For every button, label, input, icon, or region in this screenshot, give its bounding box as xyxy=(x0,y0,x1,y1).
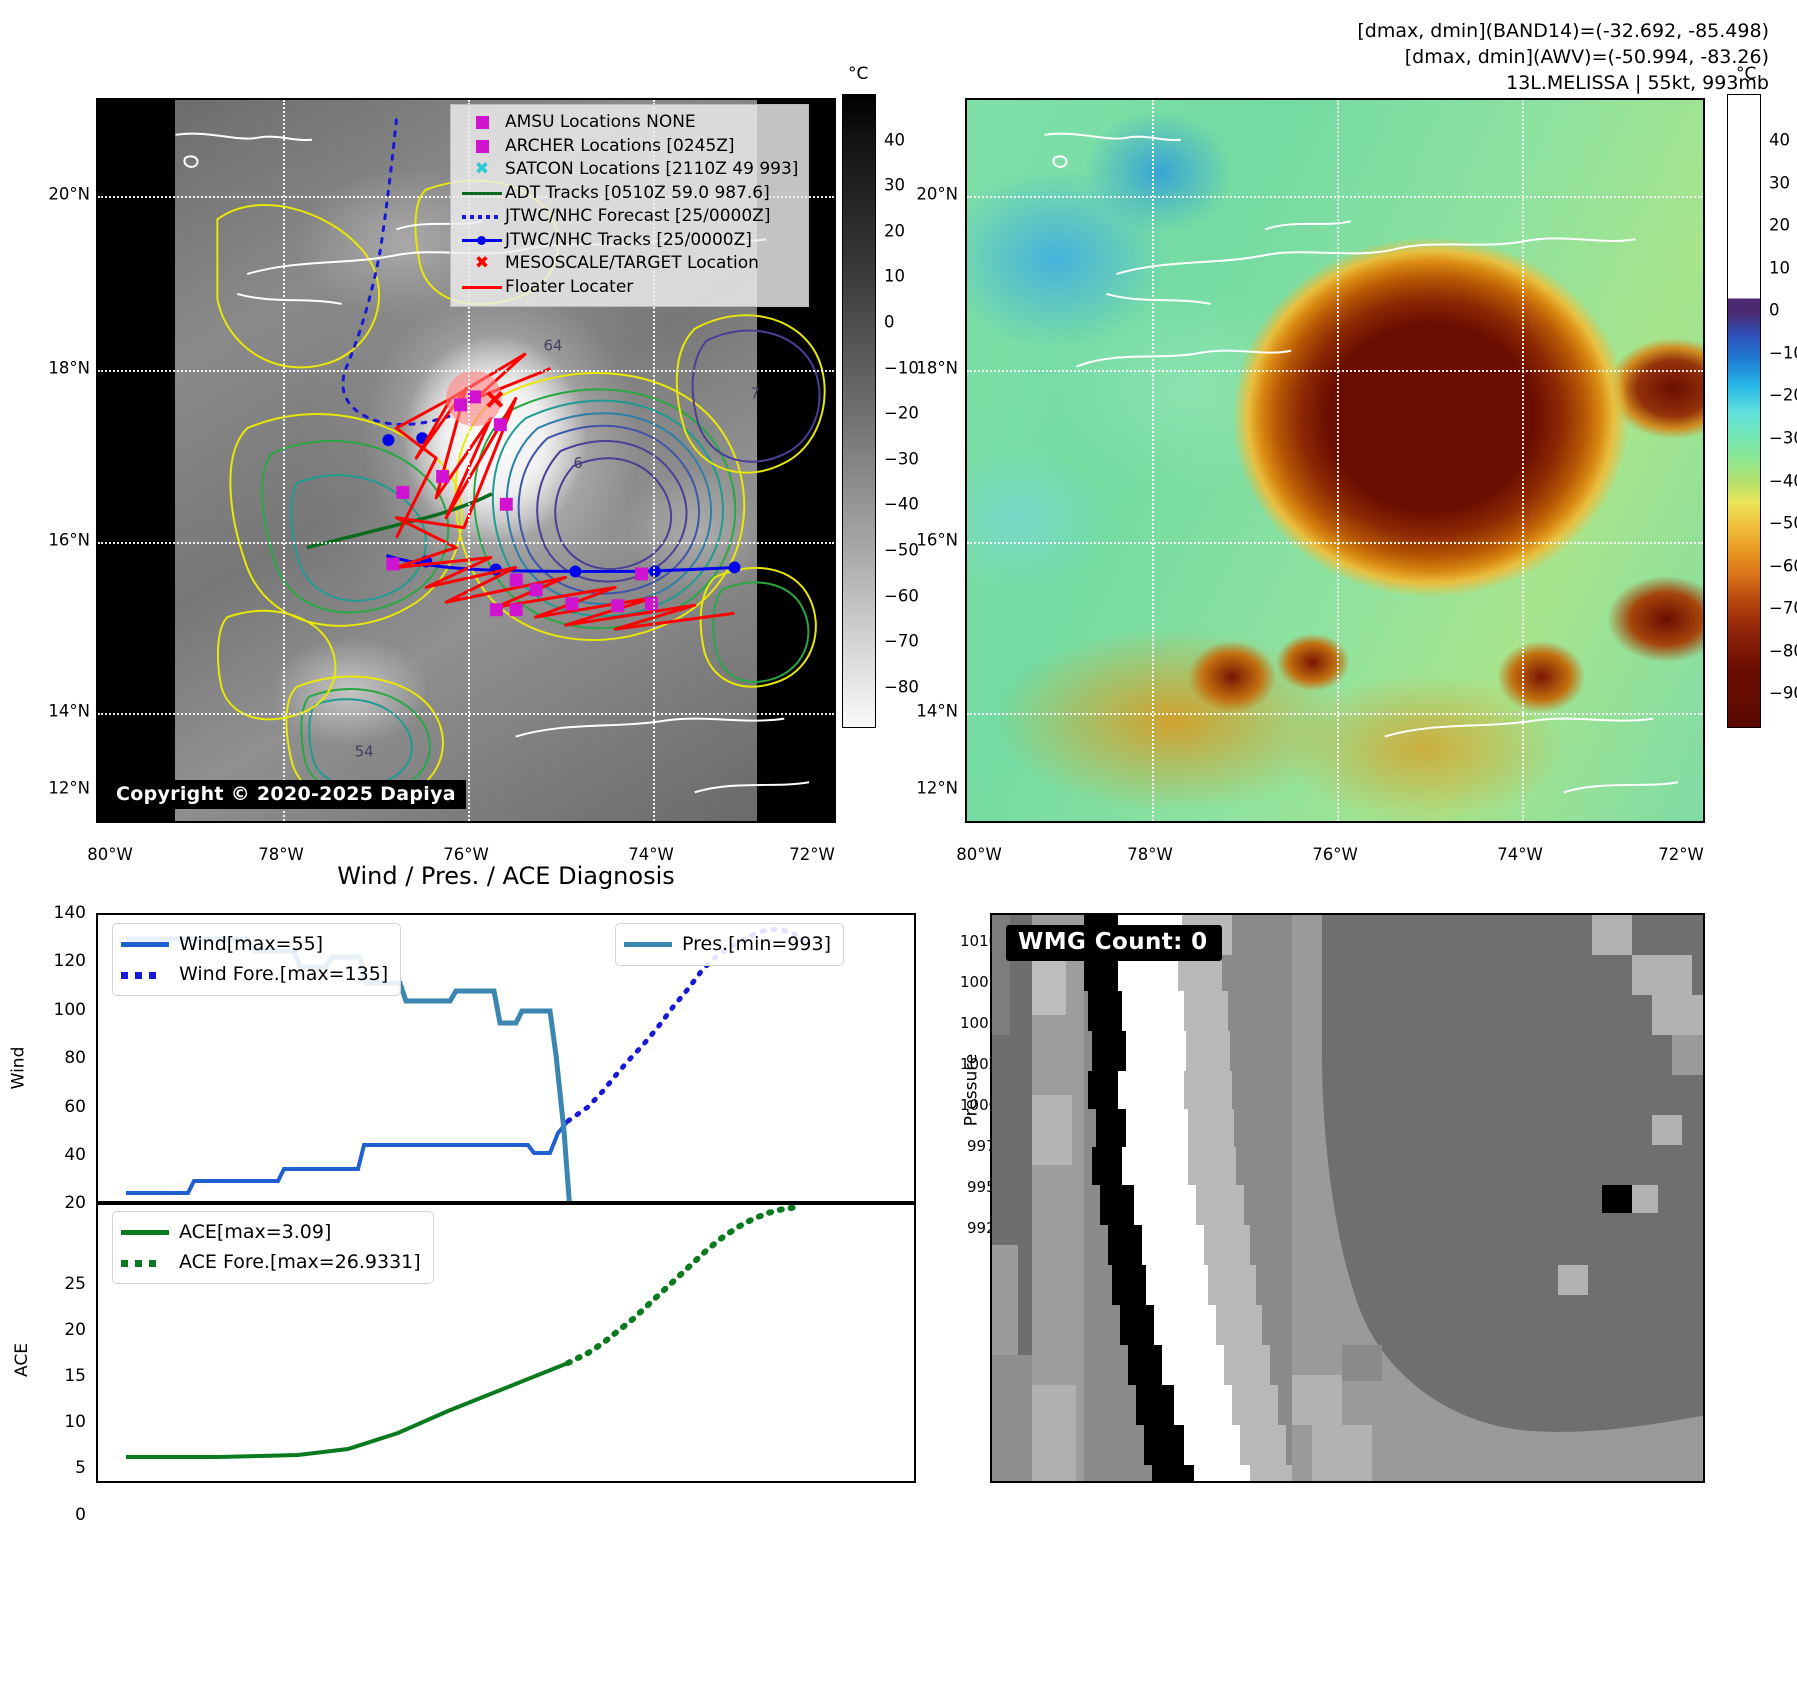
contour-label-7: 7 xyxy=(750,384,759,402)
legend-item-amsu: AMSU Locations NONE xyxy=(459,111,798,135)
legend-label: Floater Locater xyxy=(505,276,633,300)
wind-ytick-60: 60 xyxy=(34,1097,86,1117)
ir-cb-tick: −30 xyxy=(884,450,919,469)
ace-legend: ACE[max=3.09] ACE Fore.[max=26.9331] xyxy=(112,1211,434,1284)
ir-cb-tick: 0 xyxy=(884,313,895,332)
wind-legend: Wind[max=55] Wind Fore.[max=135] xyxy=(112,923,401,996)
dotted-line-icon xyxy=(459,215,505,219)
contour-label-64: 64 xyxy=(544,337,563,355)
square-marker-icon xyxy=(459,140,505,153)
solid-line-icon xyxy=(459,192,505,195)
ir-cb-tick: 20 xyxy=(884,222,905,241)
ir-cb-tick: 30 xyxy=(884,176,905,195)
ace-ytick-10: 10 xyxy=(40,1412,86,1432)
ace-ytick-15: 15 xyxy=(40,1366,86,1386)
wv-cb-tick: −20 xyxy=(1769,386,1797,405)
wmg-count-badge: WMG Count: 0 xyxy=(1006,925,1222,961)
wv-lat-tick-12N: 12°N xyxy=(908,779,958,798)
wv-gridline-lon-74 xyxy=(1522,100,1524,821)
square-marker-icon xyxy=(459,116,505,129)
ir-lon-tick: 72°W xyxy=(789,845,835,864)
ir-colorbar xyxy=(842,94,876,728)
legend-item-ace: ACE[max=3.09] xyxy=(121,1217,421,1247)
wv-cb-tick: −90 xyxy=(1769,684,1797,703)
wind-ytick-120: 120 xyxy=(34,951,86,971)
wv-lat-tick: 18°N xyxy=(908,359,958,378)
wv-cb-tick: −30 xyxy=(1769,429,1797,448)
wv-cb-tick: −80 xyxy=(1769,642,1797,661)
wv-satellite-map[interactable] xyxy=(965,98,1705,823)
ir-cb-tick: 40 xyxy=(884,131,905,150)
contour-label-54: 54 xyxy=(355,742,374,760)
wind-ytick-80: 80 xyxy=(34,1048,86,1068)
ace-ytick-5: 5 xyxy=(40,1458,86,1478)
legend-item-satcon: ✖ SATCON Locations [2110Z 49 993] xyxy=(459,158,798,182)
ace-ytick-20: 20 xyxy=(40,1320,86,1340)
legend-label: ACE[max=3.09] xyxy=(179,1217,331,1247)
wv-cb-tick: −60 xyxy=(1769,557,1797,576)
storm-summary: 13L.MELISSA | 55kt, 993mb xyxy=(1357,70,1769,96)
line-with-dot-icon xyxy=(459,236,505,245)
wv-lon-tick: 76°W xyxy=(1312,845,1358,864)
wv-gridline-lat-16 xyxy=(967,542,1703,544)
wv-cb-tick: −50 xyxy=(1769,514,1797,533)
ir-cb-tick: −60 xyxy=(884,587,919,606)
legend-item-pressure: Pres.[min=993] xyxy=(624,929,831,959)
wv-gridline-lat-18 xyxy=(967,370,1703,372)
legend-item-wind-forecast: Wind Fore.[max=135] xyxy=(121,959,388,989)
legend-label: JTWC/NHC Tracks [25/0000Z] xyxy=(505,229,752,253)
ir-cb-tick: −20 xyxy=(884,404,919,423)
wv-lat-tick: 20°N xyxy=(908,185,958,204)
ir-gridline-lat-16 xyxy=(98,542,834,544)
x-marker-icon: ✖ xyxy=(459,161,505,178)
ir-cb-tick: −70 xyxy=(884,632,919,651)
dmax-dmin-band14: [dmax, dmin](BAND14)=(-32.692, -85.498) xyxy=(1357,18,1769,44)
ir-lon-tick: 78°W xyxy=(258,845,304,864)
wv-gridline-lat-14 xyxy=(967,713,1703,715)
wv-lat-tick: 14°N xyxy=(908,702,958,721)
wv-lat-tick: 16°N xyxy=(908,531,958,550)
wmg-panel[interactable]: WMG Count: 0 xyxy=(990,913,1705,1483)
legend-label: ACE Fore.[max=26.9331] xyxy=(179,1247,421,1277)
legend-label: ARCHER Locations [0245Z] xyxy=(505,135,735,159)
contour-label-6: 6 xyxy=(573,454,582,472)
wv-cb-tick: −40 xyxy=(1769,472,1797,491)
dotted-line-icon xyxy=(121,1260,179,1264)
legend-item-mesoscale-target: ✖ MESOSCALE/TARGET Location xyxy=(459,252,798,276)
wv-lon-tick: 78°W xyxy=(1127,845,1173,864)
ir-lat-tick: 14°N xyxy=(40,702,90,721)
ir-colorbar-unit: °C xyxy=(848,64,868,84)
legend-label: AMSU Locations NONE xyxy=(505,111,696,135)
ir-lon-tick: 80°W xyxy=(87,845,133,864)
ir-cb-tick: −40 xyxy=(884,495,919,514)
ace-ytick-25: 25 xyxy=(40,1274,86,1294)
ir-lat-tick: 16°N xyxy=(40,531,90,550)
ir-satellite-map[interactable]: 64 6 7 54 xyxy=(96,98,836,823)
wv-colorbar xyxy=(1727,94,1761,728)
wv-lon-tick: 80°W xyxy=(956,845,1002,864)
wv-lon-tick: 72°W xyxy=(1658,845,1704,864)
header-info: [dmax, dmin](BAND14)=(-32.692, -85.498) … xyxy=(1357,18,1769,96)
wv-cb-tick: 0 xyxy=(1769,301,1780,320)
ir-cb-tick: −80 xyxy=(884,678,919,697)
legend-label: Pres.[min=993] xyxy=(682,929,831,959)
legend-label: SATCON Locations [2110Z 49 993] xyxy=(505,158,798,182)
legend-item-wind: Wind[max=55] xyxy=(121,929,388,959)
legend-item-ace-forecast: ACE Fore.[max=26.9331] xyxy=(121,1247,421,1277)
wind-pressure-chart[interactable]: Wind[max=55] Wind Fore.[max=135] Pres.[m… xyxy=(96,913,916,1203)
wind-ytick-140: 140 xyxy=(34,903,86,923)
wv-gridline-lon-78 xyxy=(1152,100,1154,821)
ace-axis-label: ACE xyxy=(12,1343,32,1377)
ir-lat-tick: 18°N xyxy=(40,359,90,378)
wv-cb-tick: 20 xyxy=(1769,216,1790,235)
wmg-raster xyxy=(992,915,1705,1483)
diagnosis-chart-title: Wind / Pres. / ACE Diagnosis xyxy=(337,862,675,890)
wv-cb-tick: −10 xyxy=(1769,344,1797,363)
ir-gridline-lat-14 xyxy=(98,713,834,715)
legend-label: ADT Tracks [0510Z 59.0 987.6] xyxy=(505,182,770,206)
wv-cb-tick: 10 xyxy=(1769,259,1790,278)
wv-cb-tick: −70 xyxy=(1769,599,1797,618)
wv-cb-tick: 30 xyxy=(1769,174,1790,193)
solid-line-icon xyxy=(121,942,179,947)
wv-lon-tick: 74°W xyxy=(1497,845,1543,864)
wv-gridline-lon-76 xyxy=(1337,100,1339,821)
wind-axis-label: Wind xyxy=(8,1047,28,1090)
legend-item-archer: ARCHER Locations [0245Z] xyxy=(459,135,798,159)
solid-line-icon xyxy=(624,942,682,947)
ace-ytick-0: 0 xyxy=(40,1505,86,1525)
legend-item-floater-locater: Floater Locater xyxy=(459,276,798,300)
ace-chart[interactable]: ACE[max=3.09] ACE Fore.[max=26.9331] xyxy=(96,1203,916,1483)
legend-label: MESOSCALE/TARGET Location xyxy=(505,252,759,276)
dmax-dmin-awv: [dmax, dmin](AWV)=(-50.994, -83.26) xyxy=(1357,44,1769,70)
x-marker-icon: ✖ xyxy=(459,255,505,272)
solid-line-icon xyxy=(459,286,505,289)
legend-label: JTWC/NHC Forecast [25/0000Z] xyxy=(505,205,770,229)
legend-label: Wind[max=55] xyxy=(179,929,323,959)
wind-ytick-40: 40 xyxy=(34,1145,86,1165)
ir-map-legend: AMSU Locations NONE ARCHER Locations [02… xyxy=(450,104,809,307)
ir-gridline-lon-78 xyxy=(283,100,285,821)
dashboard-root: GOES-19 BAND14-DIAS MESOSCALE Time: 2025… xyxy=(0,0,1797,1690)
wv-colorbar-unit: °C xyxy=(1736,64,1756,84)
legend-item-jtwc-forecast: JTWC/NHC Forecast [25/0000Z] xyxy=(459,205,798,229)
copyright-notice: Copyright © 2020-2025 Dapiya xyxy=(108,780,466,809)
wind-ytick-20: 20 xyxy=(34,1193,86,1213)
legend-item-adt-tracks: ADT Tracks [0510Z 59.0 987.6] xyxy=(459,182,798,206)
ir-lat-tick: 20°N xyxy=(40,185,90,204)
legend-item-jtwc-tracks: JTWC/NHC Tracks [25/0000Z] xyxy=(459,229,798,253)
dotted-line-icon xyxy=(121,972,179,976)
wv-gridline-lat-20 xyxy=(967,196,1703,198)
ir-lat-tick-12N: 12°N xyxy=(40,779,90,798)
pressure-legend: Pres.[min=993] xyxy=(615,923,844,966)
ir-cb-tick: 10 xyxy=(884,267,905,286)
wind-ytick-100: 100 xyxy=(34,1000,86,1020)
solid-line-icon xyxy=(121,1230,179,1235)
legend-label: Wind Fore.[max=135] xyxy=(179,959,388,989)
wv-cb-tick: 40 xyxy=(1769,131,1790,150)
ir-gridline-lat-18 xyxy=(98,370,834,372)
